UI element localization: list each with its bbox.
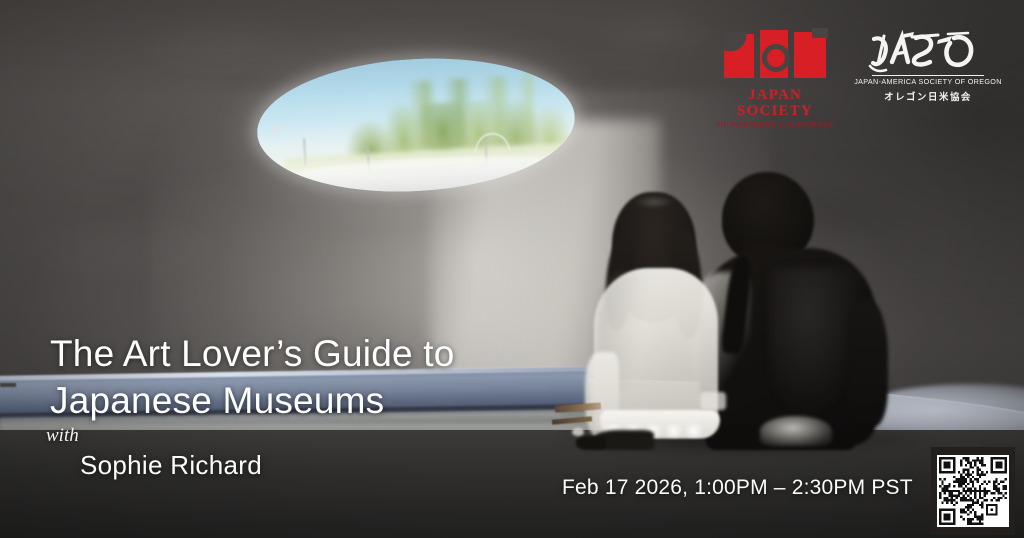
- event-title: The Art Lover’s Guide to Japanese Museum…: [50, 330, 454, 425]
- japan-society-region: OF NORTHERN CALIFORNIA: [712, 121, 838, 129]
- japan-society-mark-icon: [722, 28, 828, 84]
- jaso-brush-icon: [868, 30, 988, 74]
- event-title-line-2: Japanese Museums: [50, 377, 454, 424]
- event-promo-poster: JAPAN SOCIETY OF NORTHERN CALIFORNIA: [0, 0, 1024, 538]
- between-figures-light-patch: [700, 392, 726, 410]
- qr-code-panel[interactable]: [931, 447, 1015, 535]
- japan-society-logo[interactable]: JAPAN SOCIETY OF NORTHERN CALIFORNIA: [712, 28, 838, 128]
- partner-logos: JAPAN SOCIETY OF NORTHERN CALIFORNIA: [712, 28, 1012, 118]
- jaso-name-english: JAPAN-AMERICA SOCIETY OF OREGON: [854, 77, 1002, 86]
- woman-hair-highlight: [634, 196, 674, 208]
- speaker-name: Sophie Richard: [80, 450, 262, 481]
- wooden-slat-lower: [552, 416, 592, 424]
- man-leg-highlight: [760, 416, 832, 446]
- jaso-divider: [872, 75, 984, 76]
- event-datetime: Feb 17 2026, 1:00PM – 2:30PM PST: [562, 476, 913, 500]
- woman-hand: [572, 428, 584, 436]
- japan-society-wordmark: JAPAN SOCIETY OF NORTHERN CALIFORNIA: [712, 88, 838, 128]
- japan-society-name: JAPAN SOCIETY: [712, 88, 838, 120]
- with-label: with: [46, 425, 79, 447]
- woman-foot: [576, 436, 606, 450]
- man-right-sleeve: [846, 300, 888, 426]
- event-title-line-1: The Art Lover’s Guide to: [50, 330, 454, 377]
- registration-qr-code[interactable]: [937, 455, 1009, 527]
- jaso-name-japanese: オレゴン日米協会: [884, 89, 972, 103]
- jaso-logo[interactable]: JAPAN-AMERICA SOCIETY OF OREGON オレゴン日米協会: [864, 28, 992, 103]
